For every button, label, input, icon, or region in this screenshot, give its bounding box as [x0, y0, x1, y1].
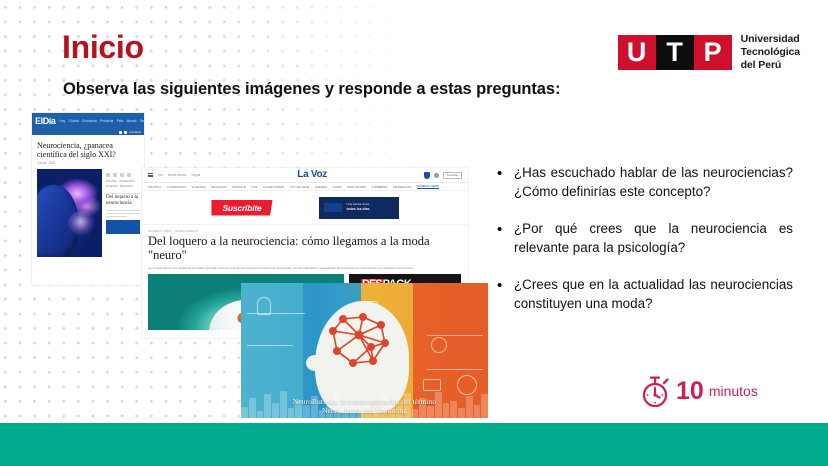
comment-icon — [113, 173, 117, 177]
lavoz-brand-logo: La Voz — [297, 170, 327, 180]
eldia-brand-logo: ElDía — [35, 117, 56, 126]
lavoz-section: MUNDO D — [232, 185, 246, 189]
lavoz-ad-row: Suscribite Una banca cerca todos los día… — [142, 191, 468, 225]
eldia-sidebar: POLÍTICA CIUDADANOS SUCESOS NEGOCIOS Del… — [106, 169, 140, 257]
lavoz-section: VOZ — [252, 185, 258, 189]
text-line — [106, 210, 140, 211]
bank-ad-line-2: todos los días — [347, 207, 370, 211]
divider — [106, 193, 140, 194]
eldia-nav-item: Depor — [140, 119, 144, 123]
screenshot-neuroburbuja-infographic: NeuroBurbuja, la sobreexplotación del té… — [241, 283, 488, 418]
lavoz-bank-ad: Una banca cerca todos los días — [319, 197, 399, 219]
eldia-side-headline: Del loquero a la neurociencia — [106, 195, 140, 207]
bullet-icon: • — [497, 276, 514, 313]
screenshot-eldia-article: ElDía Hoy Ciudad Economía Provincia País… — [32, 113, 144, 285]
bank-ad-text: Una banca cerca todos los días — [347, 203, 370, 212]
eldia-subbar-chip — [124, 131, 127, 134]
eldia-nav-item: Provincia — [100, 119, 113, 123]
clock-icon — [431, 337, 447, 353]
eldia-share-icons — [106, 173, 140, 177]
neuro-caption-line-1: NeuroBurbuja, la sobreexplotación del té… — [241, 397, 488, 407]
eldia-nav-item: Mundo — [127, 119, 137, 123]
share-icon — [106, 173, 110, 177]
question-item: • ¿Has escuchado hablar de las neurocien… — [497, 164, 793, 201]
text-line — [106, 216, 127, 217]
eldia-tag: SUCESOS — [106, 185, 118, 188]
lavoz-section-active: NÚMERO CERO — [417, 184, 439, 189]
lavoz-headline: Del loquero a la neurociencia: cómo lleg… — [142, 234, 468, 262]
eldia-tag: NEGOCIOS — [120, 185, 133, 188]
slide-subtitle: Observa las siguientes imágenes y respon… — [63, 80, 560, 99]
question-text: ¿Has escuchado hablar de las neurocienci… — [514, 164, 793, 201]
eldia-headline: Neurociencia, ¿panacea científica del si… — [32, 135, 144, 161]
eldia-article-body: POLÍTICA CIUDADANOS SUCESOS NEGOCIOS Del… — [32, 165, 144, 257]
utp-logo-letter-p: P — [694, 35, 732, 70]
lavoz-top-navbar: Ver Iniciar sesión Seguir La Voz Suscrib… — [142, 168, 468, 183]
utp-logo-marks: U T P — [618, 35, 732, 70]
bottom-teal-band — [0, 423, 828, 466]
utp-wordmark: Universidad Tecnológica del Perú — [741, 33, 800, 71]
neuro-decor-line — [247, 345, 293, 346]
utp-logo-letter-t: T — [656, 35, 694, 70]
neuro-decor-line — [427, 369, 483, 370]
lavoz-suscribite-banner: Suscribite — [211, 200, 272, 216]
lavoz-subscribe-button: Suscribite — [443, 172, 462, 179]
text-line — [106, 213, 140, 214]
utp-wordmark-line-1: Universidad — [741, 33, 800, 46]
hamburger-menu-icon — [148, 173, 153, 177]
slide-canvas: Inicio Observa las siguientes imágenes y… — [0, 0, 828, 466]
lavoz-section: POLÍTICA — [148, 185, 161, 189]
lavoz-section: AGENDA — [315, 185, 327, 189]
question-item: • ¿Por qué crees que la neurociencia es … — [497, 220, 793, 257]
lavoz-section: NEGOCIOS — [211, 185, 227, 189]
eldia-subbar-label: actualidad — [129, 131, 141, 134]
stopwatch-icon — [640, 375, 671, 408]
eldia-tag-list: POLÍTICA CIUDADANOS SUCESOS NEGOCIOS — [106, 180, 140, 188]
lavoz-section: CLIMA — [333, 185, 342, 189]
eldia-inline-ad — [106, 220, 140, 234]
neuro-decor-line — [247, 313, 305, 314]
neuro-network-graph — [323, 313, 399, 377]
timer-value: 10 — [676, 379, 704, 404]
lavoz-section: FÚNEBRES — [372, 185, 388, 189]
lavoz-section: CLASIFICADOS — [263, 185, 284, 189]
eldia-nav-item: Economía — [82, 119, 96, 123]
lavoz-nav-left: Ver Iniciar sesión Seguir — [148, 173, 201, 177]
lavoz-section: CIUDADANOS — [167, 185, 186, 189]
utp-logo-letter-u: U — [618, 35, 656, 70]
utp-wordmark-line-3: del Perú — [741, 59, 800, 72]
eldia-text-placeholder — [106, 210, 140, 217]
shield-icon — [424, 172, 430, 179]
lavoz-section: SUCESOS — [191, 185, 205, 189]
question-text: ¿Crees que en la actualidad las neurocie… — [514, 276, 793, 313]
eldia-tag: CIUDADANOS — [119, 180, 135, 183]
question-item: • ¿Crees que en la actualidad las neuroc… — [497, 276, 793, 313]
clock-icon — [120, 173, 124, 177]
twitter-icon — [127, 173, 131, 177]
lavoz-section: VOY DE VIAJE — [290, 185, 310, 189]
eldia-nav-item: País — [117, 119, 123, 123]
question-text: ¿Por qué crees que la neurociencia es re… — [514, 220, 793, 257]
lavoz-nav-item: Iniciar sesión — [168, 173, 187, 177]
lavoz-section: TENDENCIAS — [393, 185, 412, 189]
bank-ad-line-1: Una banca cerca — [347, 202, 370, 206]
lavoz-section: HORÓSCOPO — [347, 185, 366, 189]
utp-wordmark-line-2: Tecnológica — [741, 46, 800, 59]
lavoz-nav-item: Seguir — [191, 173, 200, 177]
eldia-brain-photo — [37, 169, 102, 257]
utp-logo: U T P Universidad Tecnológica del Perú — [618, 33, 800, 71]
lavoz-nav-item: Ver — [158, 173, 163, 177]
neuro-caption: NeuroBurbuja, la sobreexplotación del té… — [241, 397, 488, 416]
page-title: Inicio — [62, 31, 144, 63]
eldia-subbar-chip — [119, 131, 122, 134]
eldia-nav-item: Ciudad — [69, 119, 79, 123]
location-pin-icon — [257, 297, 271, 315]
lavoz-section-bar: POLÍTICA CIUDADANOS SUCESOS NEGOCIOS MUN… — [142, 183, 468, 191]
neuro-caption-line-2: Neuro dentro del Marketing — [241, 406, 488, 416]
questions-list: • ¿Has escuchado hablar de las neurocien… — [497, 164, 793, 332]
lavoz-breadcrumb: NÚMERO CERO · NEUROCIENCIA — [142, 225, 468, 234]
eldia-nav-items: Hoy Ciudad Economía Provincia País Mundo… — [60, 119, 144, 123]
timer-unit: minutos — [709, 384, 758, 400]
neuro-decor-line — [427, 335, 483, 336]
bank-logo-icon — [324, 203, 342, 212]
bullet-icon: • — [497, 220, 514, 257]
eldia-top-navbar: ElDía Hoy Ciudad Economía Provincia País… — [32, 113, 144, 129]
avatar — [434, 173, 439, 178]
lavoz-lead-paragraph: La "neurocultura" que apasiona al públic… — [142, 262, 468, 270]
eldia-tag: POLÍTICA — [106, 180, 117, 183]
bullet-icon: • — [497, 164, 514, 201]
timer-indicator: 10 minutos — [640, 375, 758, 408]
lavoz-nav-right: Suscribite — [424, 172, 462, 179]
eldia-nav-item: Hoy — [60, 119, 66, 123]
